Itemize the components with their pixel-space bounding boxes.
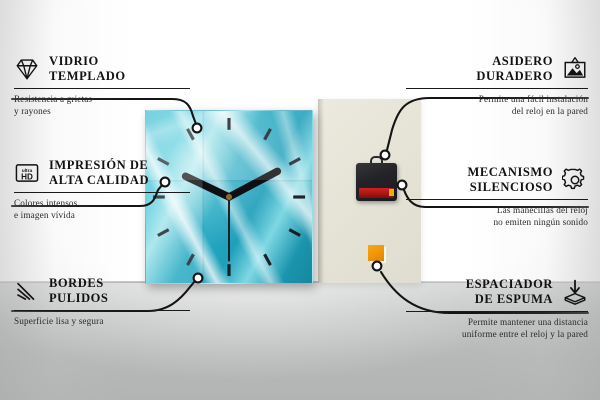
- battery-tip: [389, 189, 394, 196]
- feature-heading: MECANISMO SILENCIOSO: [406, 165, 588, 195]
- feature-heading: BORDES PULIDOS: [14, 276, 190, 306]
- infographic-canvas: VIDRIO TEMPLADO Resistencia a grietas y …: [0, 0, 600, 400]
- feature-title: ASIDERO DURADERO: [476, 54, 553, 84]
- clock-center-cap: [226, 194, 232, 200]
- feature-description: Superficie lisa y segura: [14, 315, 190, 327]
- feature-rule: [14, 310, 190, 312]
- feature-description: Resistencia a grietas y rayones: [14, 93, 190, 117]
- feature-description: Colores intensos e imagen vívida: [14, 197, 190, 221]
- feature-heading: ESPACIADOR DE ESPUMA: [406, 277, 588, 307]
- feature-heading: VIDRIO TEMPLADO: [14, 54, 190, 84]
- feature-heading: ASIDERO DURADERO: [406, 54, 588, 84]
- hour-hand: [186, 176, 229, 197]
- feature-description: Permite mantener una distancia uniforme …: [406, 316, 588, 340]
- feature-asidero-duradero: ASIDERO DURADERO Permite una fácil insta…: [406, 54, 588, 117]
- feature-vidrio-templado: VIDRIO TEMPLADO Resistencia a grietas y …: [14, 54, 190, 117]
- feature-rule: [14, 192, 190, 194]
- feature-rule: [14, 88, 190, 90]
- feature-title: IMPRESIÓN DE ALTA CALIDAD: [49, 158, 149, 188]
- wall-panel-edge: [318, 99, 324, 283]
- feature-title: BORDES PULIDOS: [49, 276, 108, 306]
- foam-spacer-icon: [562, 279, 588, 305]
- feature-description: Las manecillas del reloj no emiten ningú…: [406, 204, 588, 228]
- feature-impresion-alta-calidad: ultra HD IMPRESIÓN DE ALTA CALIDAD Color…: [14, 158, 190, 221]
- feature-mecanismo-silencioso: MECANISMO SILENCIOSO Las manecillas del …: [406, 165, 588, 228]
- feature-title: MECANISMO SILENCIOSO: [467, 165, 553, 195]
- minute-hand: [229, 171, 277, 197]
- polished-edges-icon: [14, 278, 40, 304]
- feature-heading: ultra HD IMPRESIÓN DE ALTA CALIDAD: [14, 158, 190, 188]
- feature-rule: [406, 311, 588, 313]
- picture-frame-icon: [562, 56, 588, 82]
- feature-title: ESPACIADOR DE ESPUMA: [466, 277, 553, 307]
- feature-rule: [406, 199, 588, 201]
- ultra-hd-icon: ultra HD: [14, 160, 40, 186]
- diamond-icon: [14, 56, 40, 82]
- feature-espaciador-de-espuma: ESPACIADOR DE ESPUMA Permite mantener un…: [406, 277, 588, 340]
- feature-description: Permite una fácil instalación del reloj …: [406, 93, 588, 117]
- svg-text:HD: HD: [21, 172, 33, 181]
- feature-bordes-pulidos: BORDES PULIDOS Superficie lisa y segura: [14, 276, 190, 327]
- foam-spacer: [368, 245, 384, 261]
- feature-rule: [406, 88, 588, 90]
- feature-title: VIDRIO TEMPLADO: [49, 54, 126, 84]
- gear-icon: [562, 167, 588, 193]
